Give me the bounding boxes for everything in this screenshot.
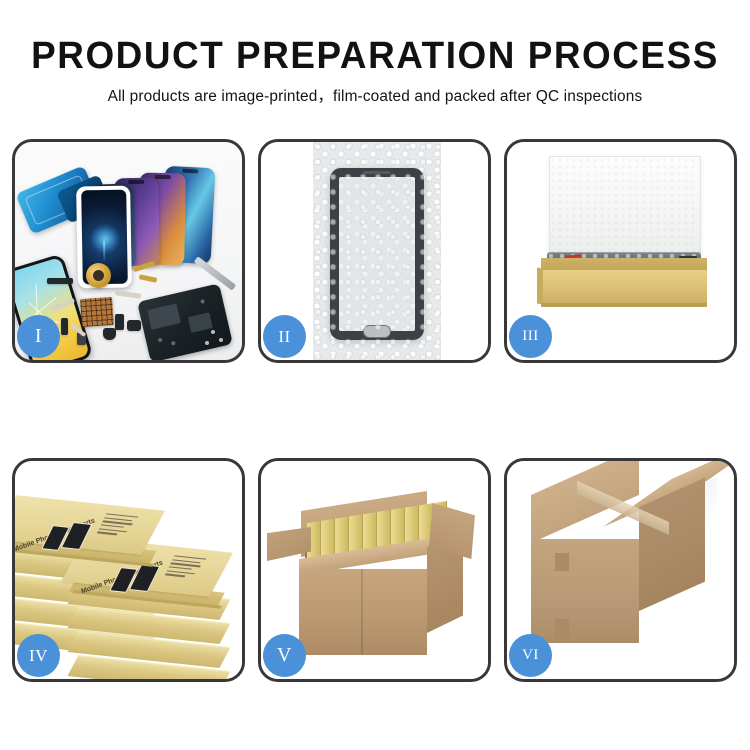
- step-badge-3: III: [509, 315, 552, 358]
- kraft-box-open: [541, 270, 707, 303]
- product-preparation-infographic: PRODUCT PREPARATION PROCESS All products…: [0, 0, 750, 750]
- step-badge-6: VI: [509, 634, 552, 677]
- step-panel-4: Mobile Phone Spare Parts Mobile P: [12, 458, 245, 682]
- small-part-e: [61, 318, 68, 335]
- page-title: PRODUCT PREPARATION PROCESS: [11, 34, 739, 78]
- step-badge-5: V: [263, 634, 306, 677]
- bubble-wrap-sheet: [313, 142, 441, 360]
- step-badge-4: IV: [17, 634, 60, 677]
- step-panel-5: V: [258, 458, 491, 682]
- carton-front-face: [299, 569, 427, 655]
- process-step-grid: I II: [12, 139, 738, 684]
- wrapped-phone-screen: [330, 168, 424, 340]
- sealed-carton-front: [531, 539, 639, 643]
- step-panel-2: II: [258, 139, 491, 363]
- step-panel-3: III: [504, 139, 737, 363]
- header: PRODUCT PREPARATION PROCESS All products…: [0, 34, 750, 107]
- small-part-bar: [47, 278, 73, 284]
- copper-coil-part: [86, 263, 111, 288]
- step-panel-6: VI: [504, 458, 737, 682]
- copper-mesh-part: [80, 297, 114, 327]
- small-part-a: [115, 314, 124, 330]
- small-part-c: [103, 328, 116, 340]
- small-part-b: [127, 320, 141, 331]
- step-badge-1: I: [17, 315, 60, 358]
- step-panel-1: I: [12, 139, 245, 363]
- page-subtitle: All products are image-printed，film-coat…: [0, 87, 750, 107]
- step-badge-2: II: [263, 315, 306, 358]
